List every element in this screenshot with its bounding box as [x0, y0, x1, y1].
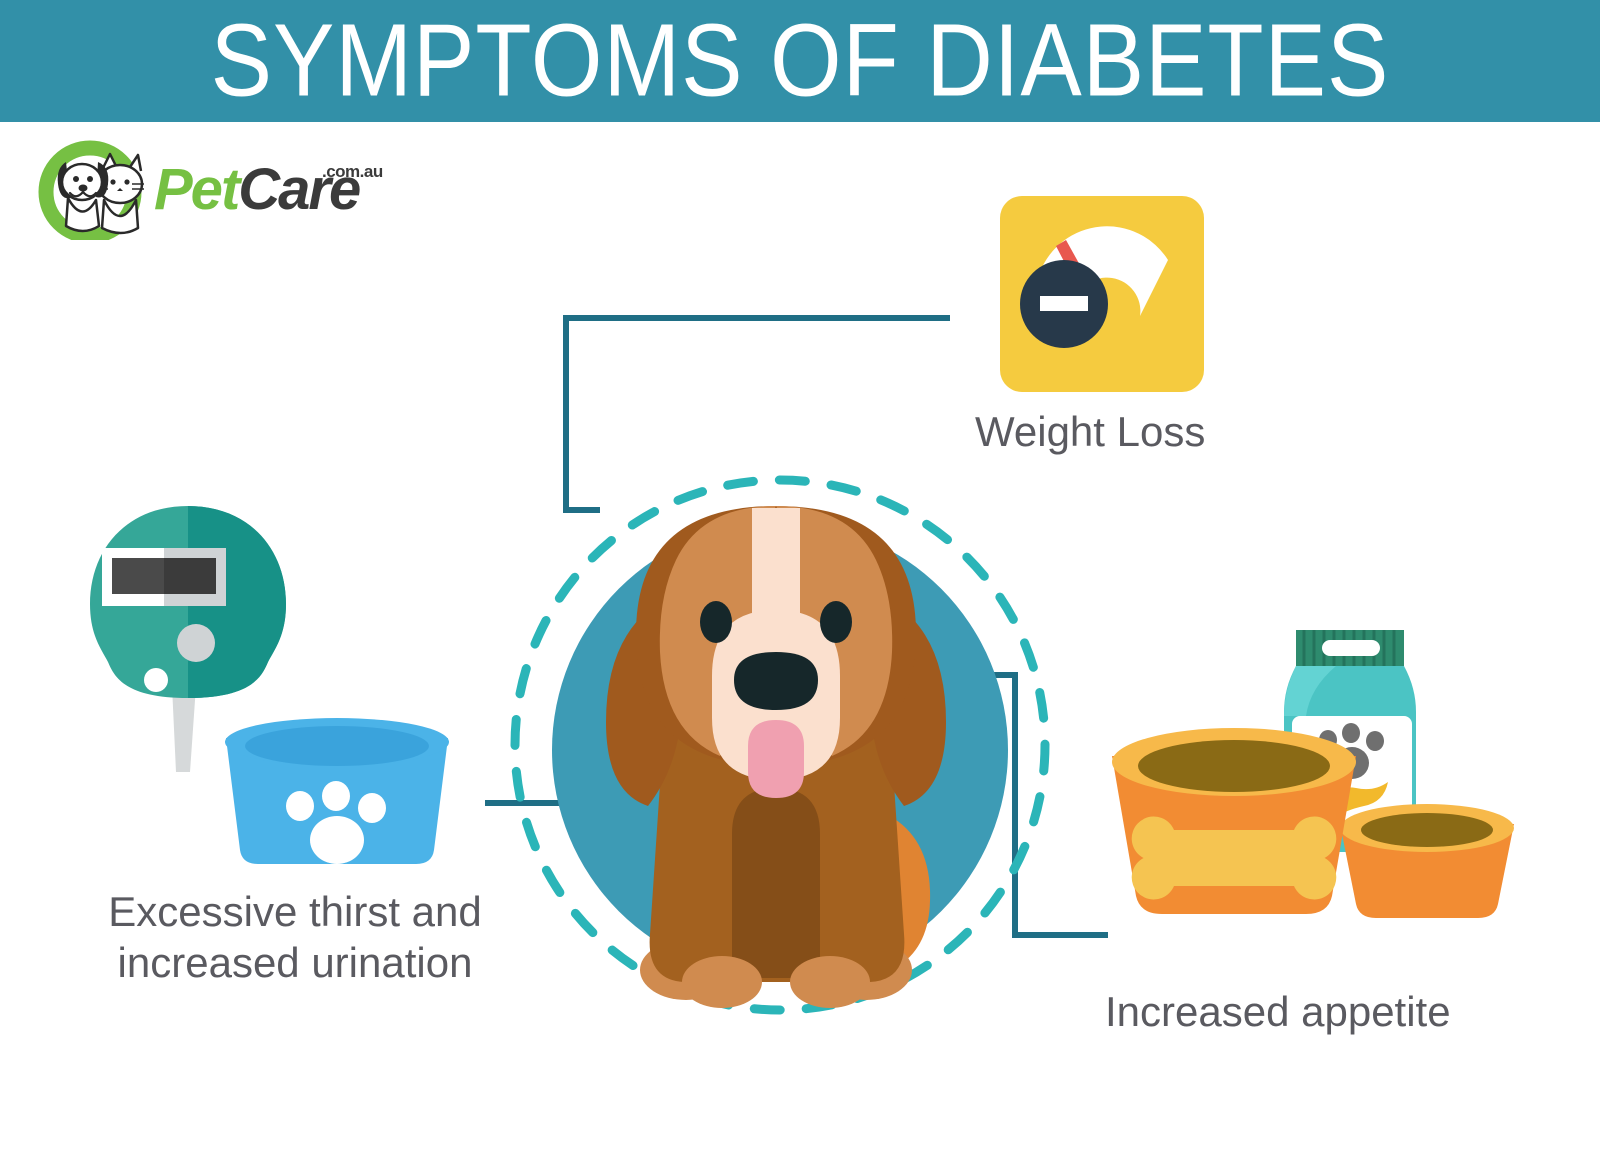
label-excessive-thirst: Excessive thirst and increased urination	[60, 886, 530, 988]
petcare-logo[interactable]: PetCare .com.au	[36, 140, 356, 240]
meter-screen-shade	[164, 558, 216, 594]
food-bowl-small	[1340, 804, 1514, 918]
meter-test-strip	[172, 686, 196, 772]
label-increased-appetite: Increased appetite	[1105, 986, 1451, 1037]
water-bowl-inner	[245, 726, 429, 766]
meter-button-large	[177, 624, 215, 662]
logo-text-pet: Pet	[154, 161, 238, 219]
bottle-cap-handle	[1322, 640, 1380, 656]
water-bowl-icon	[212, 718, 462, 866]
dog-nose	[734, 652, 818, 710]
dog-eye-right	[820, 601, 852, 643]
dog-front-paw-left	[682, 956, 762, 1008]
dog-eye-left	[700, 601, 732, 643]
food-bowl-large	[1112, 728, 1356, 914]
bathroom-scale-icon	[1000, 196, 1204, 392]
infographic-page: SYMPTOMS OF DIABETES PetCare .com.au	[0, 0, 1600, 1155]
dog-front-paw-right	[790, 956, 870, 1008]
sitting-beagle-dog-icon	[606, 506, 946, 1008]
page-title: SYMPTOMS OF DIABETES	[0, 0, 1600, 129]
label-weight-loss: Weight Loss	[975, 406, 1205, 457]
scale-minus-sign	[1040, 296, 1088, 311]
dog-tongue	[748, 720, 804, 798]
logo-tld: .com.au	[322, 162, 383, 182]
center-dog-illustration	[490, 470, 1070, 1030]
dog-chest-marking	[732, 788, 820, 978]
food-bowls-and-supplement-bottle-icon	[1100, 628, 1520, 958]
meter-button-small	[144, 668, 168, 692]
